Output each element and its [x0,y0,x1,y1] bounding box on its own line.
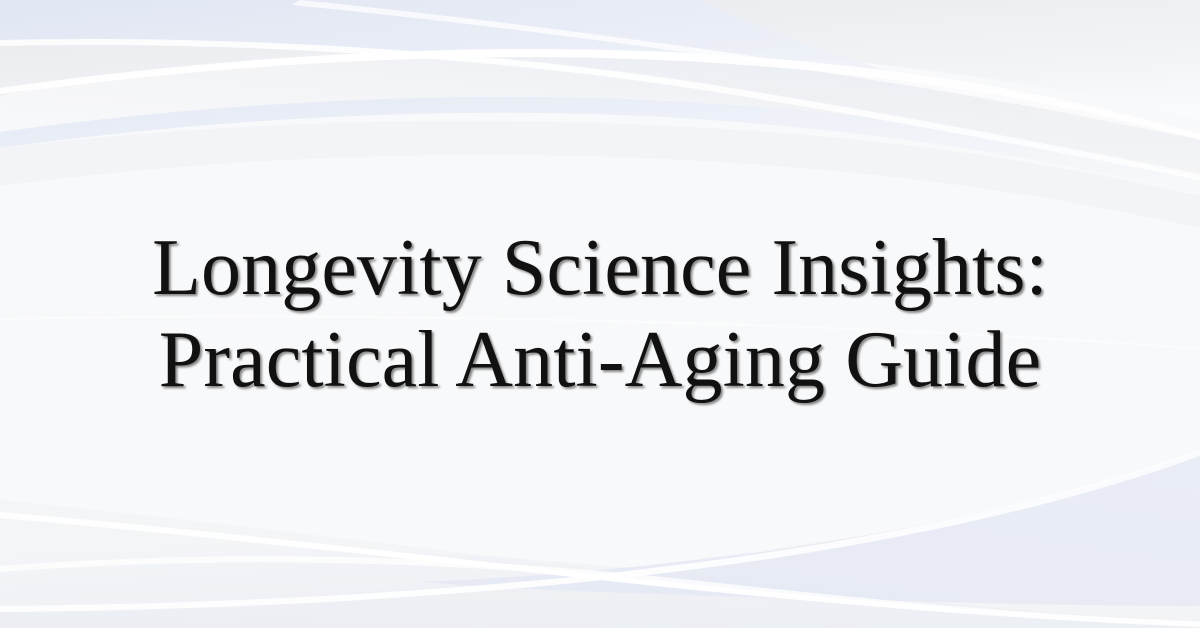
banner-title-block: Longevity Science Insights: Practical An… [0,0,1200,628]
banner-title-line-1: Longevity Science Insights: [152,222,1048,314]
og-banner-card: Longevity Science Insights: Practical An… [0,0,1200,628]
banner-title-line-2: Practical Anti-Aging Guide [159,314,1041,406]
